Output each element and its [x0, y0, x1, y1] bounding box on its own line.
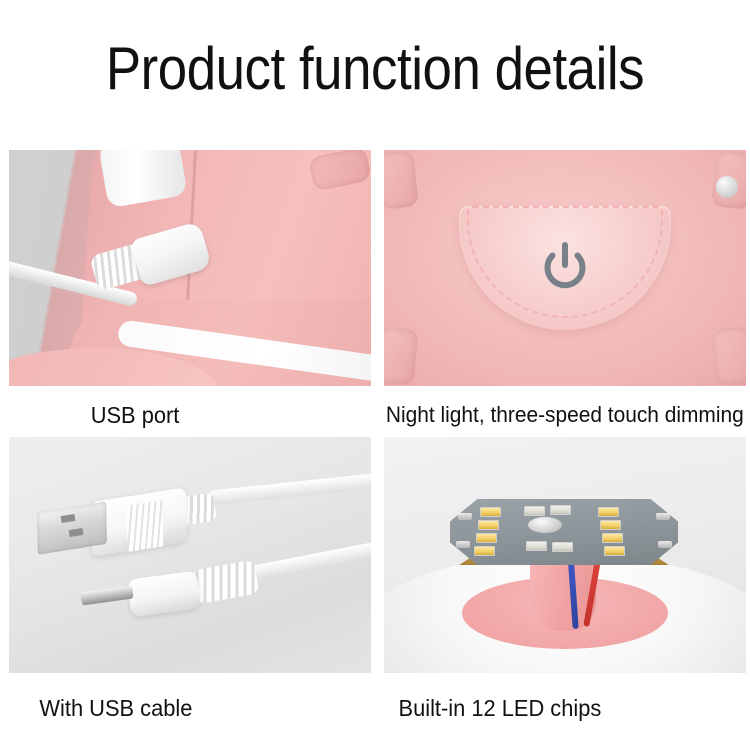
solder-pad [656, 513, 670, 520]
usb-cable-photo [9, 437, 371, 673]
dc-plug-pin [80, 585, 133, 605]
solder-pad [658, 541, 672, 548]
corner-tab-top-left [384, 150, 419, 210]
led-chip [550, 505, 571, 515]
night-light-photo [384, 150, 746, 386]
led-chip [526, 541, 547, 551]
led-board-photo [384, 437, 746, 673]
corner-tab-bottom-right [711, 326, 746, 386]
led-chip [480, 507, 501, 517]
caption-led-chips: Built-in 12 LED chips [9, 673, 601, 725]
usb-connector-ribs [127, 500, 163, 552]
cable-wire-upper [207, 471, 371, 506]
led-chip [598, 507, 619, 517]
led-chip [478, 520, 499, 530]
usb-port-photo [9, 150, 371, 386]
feature-panel-night-light: Night light, three-speed touch dimming [384, 150, 746, 432]
led-chip [604, 546, 625, 556]
led-chip [602, 533, 623, 543]
center-screw [528, 517, 562, 533]
led-chip [476, 533, 497, 543]
housing-screw [716, 176, 738, 198]
caption-night-light: Night light, three-speed touch dimming [384, 386, 728, 432]
led-chip [600, 520, 621, 530]
caption-usb-port: USB port [9, 386, 353, 432]
dc-plug-strain-relief [191, 560, 260, 605]
solder-pad [458, 513, 472, 520]
led-chip [524, 506, 545, 516]
led-chip [552, 542, 573, 552]
page-title: Product function details [45, 36, 705, 102]
feature-panel-usb-port: USB port [9, 150, 371, 432]
feature-panel-led-chips: Built-in 12 LED chips [384, 437, 746, 673]
corner-tab-bottom-left [384, 326, 419, 386]
led-chip [474, 546, 495, 556]
feature-panel-grid: USB port Night light, three-speed touch … [9, 150, 741, 736]
dc-plug-body [127, 570, 202, 617]
cable-wire-lower [249, 532, 371, 581]
power-icon[interactable] [535, 238, 595, 298]
solder-pad [456, 541, 470, 548]
